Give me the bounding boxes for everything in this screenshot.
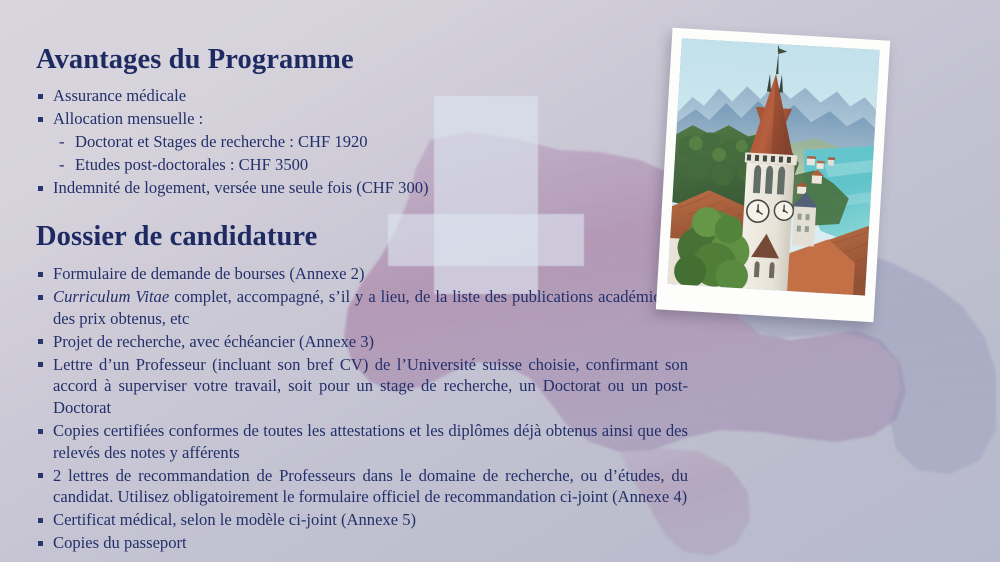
list-item: Assurance médicale (36, 85, 688, 107)
list-item: Allocation mensuelle : Doctorat et Stage… (36, 108, 688, 175)
swiss-church-lake-photo (656, 28, 890, 322)
list-item: Certificat médical, selon le modèle ci-j… (36, 509, 688, 531)
sub-list-item: Etudes post-doctorales : CHF 3500 (53, 154, 688, 176)
list-item-label: 2 lettres de recommandation de Professeu… (53, 466, 688, 507)
list-item: Copies certifiées conformes de toutes le… (36, 420, 688, 463)
list-item-label: Copies du passeport (53, 533, 187, 552)
list-item-emphasis: Curriculum Vitae (53, 287, 169, 306)
list-item-label: Projet de recherche, avec échéancier (An… (53, 332, 374, 351)
list-item: Curriculum Vitae complet, accompagné, s’… (36, 286, 688, 329)
slide: Avantages du Programme Assurance médical… (0, 0, 1000, 562)
allocation-sublist: Doctorat et Stages de recherche : CHF 19… (53, 131, 688, 176)
list-item-label: Allocation mensuelle : (53, 109, 203, 128)
avantages-list: Assurance médicale Allocation mensuelle … (36, 85, 688, 198)
list-item: Copies du passeport (36, 532, 688, 554)
list-item-label: Indemnité de logement, versée une seule … (53, 178, 429, 197)
sub-list-item-label: Doctorat et Stages de recherche : CHF 19… (75, 132, 368, 151)
list-item: Indemnité de logement, versée une seule … (36, 177, 688, 199)
sub-list-item: Doctorat et Stages de recherche : CHF 19… (53, 131, 688, 153)
list-item-label: Lettre d’un Professeur (incluant son bre… (53, 355, 688, 417)
list-item: Formulaire de demande de bourses (Annexe… (36, 263, 688, 285)
list-item-label: Certificat médical, selon le modèle ci-j… (53, 510, 416, 529)
slide-content: Avantages du Programme Assurance médical… (36, 44, 688, 555)
dossier-list: Formulaire de demande de bourses (Annexe… (36, 263, 688, 554)
list-item: 2 lettres de recommandation de Professeu… (36, 465, 688, 508)
list-item-label: Copies certifiées conformes de toutes le… (53, 421, 688, 462)
page-title-dossier: Dossier de candidature (36, 221, 688, 252)
list-item: Projet de recherche, avec échéancier (An… (36, 331, 688, 353)
photo-image (667, 38, 879, 295)
sub-list-item-label: Etudes post-doctorales : CHF 3500 (75, 155, 308, 174)
list-item-label: Formulaire de demande de bourses (Annexe… (53, 264, 365, 283)
list-item-label: Assurance médicale (53, 86, 186, 105)
list-item: Lettre d’un Professeur (incluant son bre… (36, 354, 688, 419)
page-title-avantages: Avantages du Programme (36, 44, 688, 75)
